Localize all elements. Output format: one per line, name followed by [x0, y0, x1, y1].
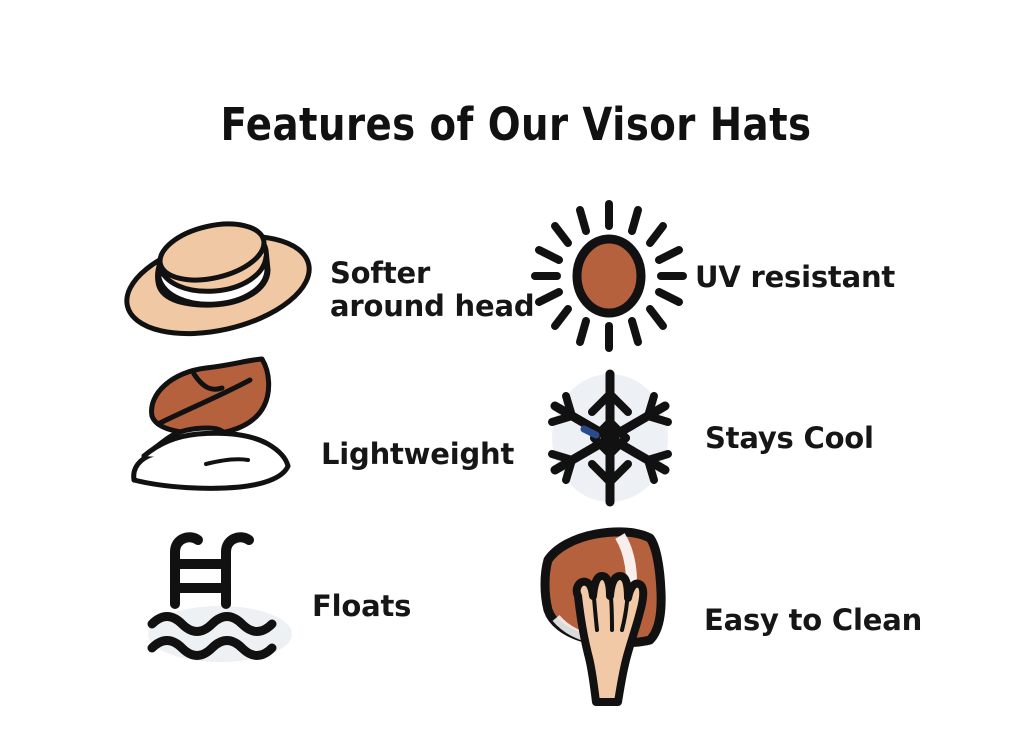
feature-easy-to-clean: Easy to Clean — [534, 518, 922, 708]
hand-wiping-cloth-icon — [534, 518, 694, 708]
sun-hat-icon — [118, 212, 318, 337]
feature-label-lightweight: Lightweight — [321, 438, 514, 470]
feature-stays-cool: Stays Cool — [538, 368, 874, 508]
page-title: Features of Our Visor Hats — [72, 98, 960, 151]
feature-label-uv-resistant: UV resistant — [695, 261, 895, 293]
leaf-on-hand-icon — [128, 358, 313, 490]
pool-ladder-water-icon — [148, 528, 298, 663]
sun-icon — [532, 200, 687, 352]
infographic-canvas: Features of Our Visor Hats Softer around… — [0, 0, 1032, 729]
feature-uv-resistant: UV resistant — [532, 200, 895, 352]
snowflake-icon — [538, 368, 683, 508]
feature-softer-around-head: Softer around head — [118, 212, 534, 337]
feature-lightweight: Lightweight — [128, 358, 514, 490]
feature-label-softer-around-head: Softer around head — [330, 257, 534, 322]
feature-floats: Floats — [148, 528, 411, 663]
feature-label-stays-cool: Stays Cool — [705, 422, 874, 454]
feature-label-easy-to-clean: Easy to Clean — [704, 604, 922, 636]
feature-label-floats: Floats — [312, 590, 411, 622]
